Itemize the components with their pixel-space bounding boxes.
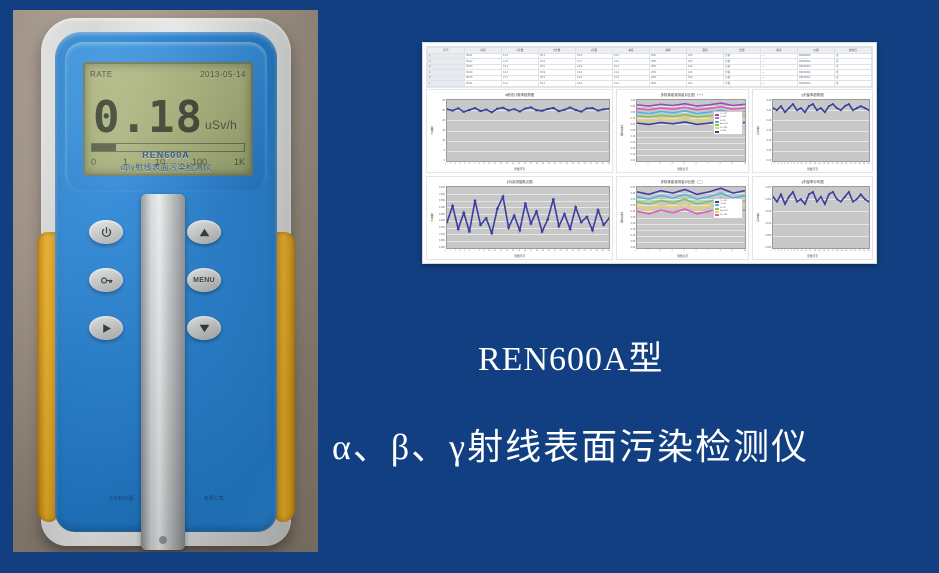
y-tick-label: 0.20 — [625, 147, 635, 150]
product-photo: RATE 2013-05-14 0.18 uSv/h 0 1 10 100 — [13, 10, 318, 552]
y-tick-label: 0.20 — [625, 222, 635, 225]
device-model-label: REN600A — [55, 150, 277, 160]
y-tick-label: 0.45 — [625, 192, 635, 195]
spreadsheet-table: 序号时间α计数β计数γ剂量本底效率面积结果备注仪器操作员 109:0112.43… — [427, 47, 872, 88]
chart-title: 多核素能谱测量对比图（一） — [619, 92, 746, 99]
y-tick-label: 25 — [435, 109, 445, 112]
y-tick-label: 0.10 — [625, 153, 635, 156]
chart-title: β污染测量散点图 — [429, 179, 610, 186]
play-icon — [100, 322, 113, 335]
y-tick-label: 0.90 — [625, 105, 635, 108]
y-tick-label: 0.30 — [625, 210, 635, 213]
y-tick-label: 0.15 — [625, 228, 635, 231]
chart-cell[interactable]: α射线计数率趋势图计数率3025201510501234567891011121… — [426, 89, 613, 173]
key-icon — [100, 274, 113, 287]
y-tick-label: 0.050 — [435, 239, 445, 242]
y-tick-label: 0.300 — [435, 206, 445, 209]
legend-entry: Pu-239 — [715, 214, 741, 217]
triangle-up-icon — [198, 226, 211, 239]
chart-plot-area: 剂量率0.300.250.200.150.100.050.00 — [755, 99, 870, 162]
charts-grid: α射线计数率趋势图计数率3025201510501234567891011121… — [426, 89, 873, 260]
table-cell: 张 — [835, 86, 872, 88]
chart-title: 多核素能谱测量对比图（二） — [619, 179, 746, 186]
chart-plot-area: 相对强度0.500.450.400.350.300.250.200.150.10… — [619, 186, 746, 249]
y-tick-label: 0.25 — [761, 109, 771, 112]
y-tick-label: 0.450 — [435, 186, 445, 189]
x-axis-label: 测量序号 — [753, 254, 872, 259]
y-tick-label: 0.150 — [761, 210, 771, 213]
legend-label: U-238 — [720, 130, 726, 133]
x-axis-label: 测量点号 — [617, 167, 748, 172]
y-tick-label: 0.00 — [625, 246, 635, 249]
power-button[interactable] — [89, 220, 123, 244]
table-cell: 09:02 — [465, 86, 502, 88]
y-axis-ticks: 0.500.450.400.350.300.250.200.150.100.05… — [625, 186, 636, 249]
device-face: RATE 2013-05-14 0.18 uSv/h 0 1 10 100 — [55, 32, 277, 532]
data-spreadsheet[interactable]: 序号时间α计数β计数γ剂量本底效率面积结果备注仪器操作员 109:0112.43… — [426, 46, 873, 88]
y-axis-ticks: 0.4500.4000.3500.3000.2500.2000.1500.100… — [435, 186, 446, 249]
device-desc-label: αβγ射线表面污染检测仪 — [55, 162, 277, 173]
table-cell: 28% — [650, 86, 687, 88]
y-axis-ticks: 0.2500.2000.1500.1000.0500.000 — [761, 186, 772, 249]
software-screenshot-panel: 序号时间α计数β计数γ剂量本底效率面积结果备注仪器操作员 109:0112.43… — [422, 42, 877, 264]
chart-cell[interactable]: β污染测量散点图计数率0.4500.4000.3500.3000.2500.20… — [426, 176, 613, 260]
y-tick-label: 0.05 — [761, 149, 771, 152]
y-tick-label: 0 — [435, 159, 445, 162]
chart-canvas — [772, 99, 870, 162]
table-cell: — — [761, 86, 798, 88]
y-axis-ticks: 302520151050 — [435, 99, 446, 162]
chart-title: α射线计数率趋势图 — [429, 92, 610, 99]
y-tick-label: 0.200 — [761, 198, 771, 201]
y-axis-ticks: 1.000.900.800.700.600.500.400.300.200.10… — [625, 99, 636, 162]
y-tick-label: 1.00 — [625, 99, 635, 102]
device-nameplate: REN600A αβγ射线表面污染检测仪 — [55, 150, 277, 173]
manufacturer-right-label: 有限公司 — [204, 495, 224, 502]
chart-plot-area: 计数率0.4500.4000.3500.3000.2500.2000.1500.… — [429, 186, 610, 249]
y-tick-label: 5 — [435, 149, 445, 152]
y-tick-label: 0.30 — [761, 99, 771, 102]
table-cell: 合格 — [724, 86, 761, 88]
chart-canvas — [446, 99, 610, 162]
table-cell: 100 — [687, 86, 724, 88]
y-tick-label: 0.80 — [625, 111, 635, 114]
x-axis-label: 测量序号 — [427, 167, 612, 172]
device-footer-marks: 北京核仪器 有限公司 — [55, 495, 277, 502]
chart-plot-area: 剂量率0.2500.2000.1500.1000.0500.000 — [755, 186, 870, 249]
legend-label: Pu-239 — [720, 214, 727, 217]
y-tick-label: 0.35 — [625, 204, 635, 207]
device-keypad: MENU — [55, 202, 277, 402]
chart-canvas — [772, 186, 870, 249]
y-tick-label: 0.200 — [435, 219, 445, 222]
product-title-line1: REN600A型 — [478, 331, 664, 380]
y-tick-label: 0.30 — [625, 141, 635, 144]
y-tick-label: 0.400 — [435, 193, 445, 196]
lcd-date-label: 2013-05-14 — [200, 70, 246, 79]
chart-canvas — [446, 186, 610, 249]
power-icon — [100, 226, 113, 239]
lcd-value: 0.18 — [93, 96, 203, 140]
lcd-status-row: RATE 2013-05-14 — [90, 67, 246, 82]
y-tick-label: 10 — [435, 139, 445, 142]
y-tick-label: 0.20 — [761, 119, 771, 122]
table-cell: 34.6 — [539, 86, 576, 88]
menu-button-label: MENU — [193, 277, 215, 284]
y-tick-label: 0.250 — [761, 186, 771, 189]
device-ren600a: RATE 2013-05-14 0.18 uSv/h 0 1 10 100 — [41, 18, 291, 550]
chart-legend: Cs-137Co-60Sr-90Am-241Pu-239U-238 — [713, 111, 743, 135]
chart-legend: Cs-137Co-60Sr-90Am-241Pu-239 — [713, 198, 743, 219]
triangle-down-icon — [198, 322, 211, 335]
y-tick-label: 0.10 — [761, 139, 771, 142]
menu-button[interactable]: MENU — [187, 268, 221, 292]
chart-cell[interactable]: 多核素能谱测量对比图（一）相对强度1.000.900.800.700.600.5… — [616, 89, 749, 173]
y-tick-label: 0.250 — [435, 213, 445, 216]
y-axis-ticks: 0.300.250.200.150.100.050.00 — [761, 99, 772, 162]
table-cell: 2 — [428, 86, 465, 88]
key-button[interactable] — [89, 268, 123, 292]
chart-plot-area: 相对强度1.000.900.800.700.600.500.400.300.20… — [619, 99, 746, 162]
y-tick-label: 0.50 — [625, 186, 635, 189]
manufacturer-left-label: 北京核仪器 — [108, 495, 133, 502]
legend-entry: U-238 — [715, 130, 741, 133]
lcd-mode-label: RATE — [90, 70, 113, 79]
y-tick-label: 0.50 — [625, 129, 635, 132]
y-tick-label: 0.25 — [625, 216, 635, 219]
table-cell: REN600A — [798, 86, 835, 88]
chart-title: γ剂量率趋势图 — [755, 92, 870, 99]
y-tick-label: 0.150 — [435, 226, 445, 229]
chart-cell[interactable]: γ剂量率分布图剂量率0.2500.2000.1500.1000.0500.000… — [752, 176, 873, 260]
y-tick-label: 0.10 — [625, 234, 635, 237]
down-button[interactable] — [187, 316, 221, 340]
x-axis-label: 测量序号 — [753, 167, 872, 172]
table-row[interactable]: 209:0211.834.60.170.1228%100合格—REN600A张 — [428, 86, 872, 88]
y-tick-label: 0.350 — [435, 199, 445, 202]
y-tick-label: 20 — [435, 119, 445, 122]
y-tick-label: 15 — [435, 129, 445, 132]
y-tick-label: 0.050 — [761, 234, 771, 237]
chart-plot-area: 计数率302520151050 — [429, 99, 610, 162]
y-tick-label: 0.15 — [761, 129, 771, 132]
table-cell: 11.8 — [502, 86, 539, 88]
play-button[interactable] — [89, 316, 123, 340]
slide-background: RATE 2013-05-14 0.18 uSv/h 0 1 10 100 — [0, 0, 939, 573]
lcd-unit: uSv/h — [205, 118, 237, 132]
y-tick-label: 0.00 — [625, 159, 635, 162]
y-tick-label: 0.05 — [625, 240, 635, 243]
y-tick-label: 0.70 — [625, 117, 635, 120]
table-cell: 0.17 — [576, 86, 613, 88]
y-tick-label: 0.40 — [625, 198, 635, 201]
y-tick-label: 30 — [435, 99, 445, 102]
y-tick-label: 0.100 — [435, 233, 445, 236]
y-tick-label: 0.60 — [625, 123, 635, 126]
x-axis-label: 测量点号 — [617, 254, 748, 259]
y-tick-label: 0.00 — [761, 159, 771, 162]
y-tick-label: 0.40 — [625, 135, 635, 138]
product-title-line2: α、β、γ射线表面污染检测仪 — [332, 418, 809, 470]
lcd-reading: 0.18 uSv/h — [93, 84, 245, 140]
x-axis-label: 测量序号 — [427, 254, 612, 259]
y-tick-label: 0.000 — [435, 246, 445, 249]
y-tick-label: 0.100 — [761, 222, 771, 225]
chart-cell[interactable]: γ剂量率趋势图剂量率0.300.250.200.150.100.050.0012… — [752, 89, 873, 173]
device-grip-right — [274, 232, 295, 522]
table-cell: 0.12 — [613, 86, 650, 88]
chart-title: γ剂量率分布图 — [755, 179, 870, 186]
y-tick-label: 0.000 — [761, 246, 771, 249]
chart-cell[interactable]: 多核素能谱测量对比图（二）相对强度0.500.450.400.350.300.2… — [616, 176, 749, 260]
up-button[interactable] — [187, 220, 221, 244]
